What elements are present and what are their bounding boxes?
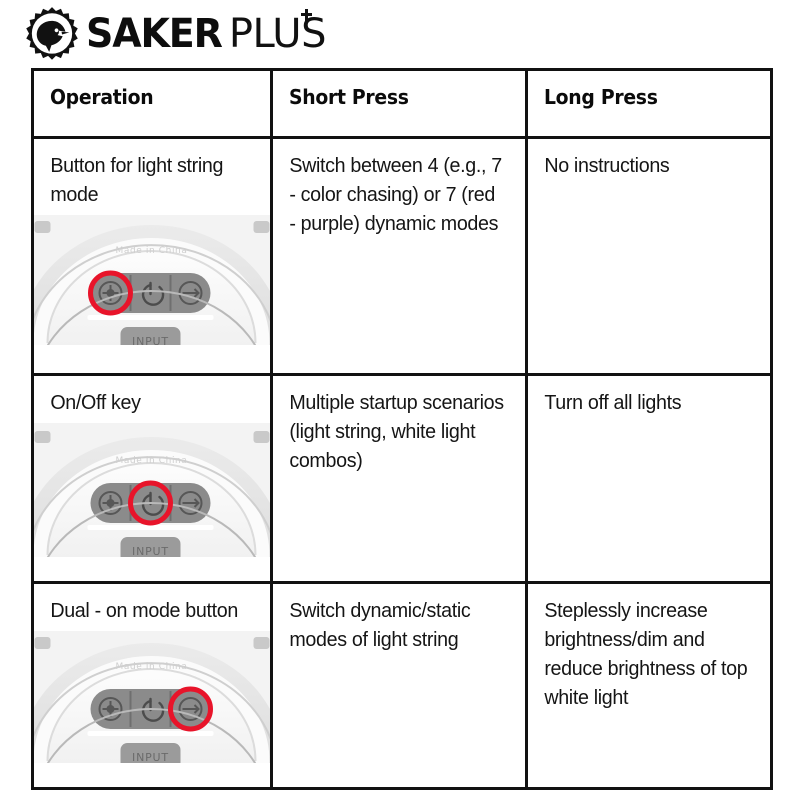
operation-spec-table: Operation Short Press Long Press Button … (31, 68, 773, 790)
eagle-head-in-gear-icon (24, 6, 80, 62)
table-row: Button for light string mode (33, 138, 772, 375)
device-photo-row2: Made in China (34, 423, 270, 557)
short-press-text-row3: Switch dynamic/static modes of light str… (273, 584, 515, 662)
long-press-text-row3: Steplessly increase brightness/dim and r… (528, 584, 760, 720)
device-photo-row1: Made in China (34, 215, 270, 345)
svg-text:INPUT: INPUT (132, 751, 169, 763)
brand-wordmark: SAKER PLUS (86, 14, 326, 54)
svg-text:Made in China: Made in China (116, 662, 188, 672)
cell-long-press-row1: No instructions (527, 138, 772, 375)
operation-label-row3: Dual - on mode button (34, 584, 261, 631)
cell-short-press-row3: Switch dynamic/static modes of light str… (272, 582, 527, 788)
table-header-row: Operation Short Press Long Press (33, 70, 772, 138)
cell-operation-row1: Button for light string mode (33, 138, 272, 375)
svg-text:INPUT: INPUT (132, 545, 169, 557)
operation-label-row1: Button for light string mode (34, 139, 261, 215)
cell-short-press-row1: Switch between 4 (e.g., 7 - color chasin… (272, 138, 527, 375)
cell-operation-row2: On/Off key (33, 374, 272, 582)
long-press-text-row2: Turn off all lights (528, 376, 760, 425)
column-header-operation-label: Operation (34, 71, 256, 109)
svg-text:INPUT: INPUT (132, 335, 169, 345)
column-header-long-press-label: Long Press (528, 71, 755, 109)
short-press-text-row2: Multiple startup scenarios (light string… (273, 376, 515, 483)
table-row: Dual - on mode button (33, 582, 772, 788)
cell-long-press-row3: Steplessly increase brightness/dim and r… (527, 582, 772, 788)
brand-logo: SAKER PLUS (24, 6, 326, 62)
svg-text:Made in China: Made in China (116, 246, 188, 256)
short-press-text-row1: Switch between 4 (e.g., 7 - color chasin… (273, 139, 515, 246)
column-header-operation: Operation (33, 70, 272, 138)
cell-long-press-row2: Turn off all lights (527, 374, 772, 582)
plus-cross-mark-icon (301, 9, 312, 21)
svg-text:Made in China: Made in China (116, 456, 188, 466)
column-header-short-press: Short Press (272, 70, 527, 138)
cell-operation-row3: Dual - on mode button (33, 582, 272, 788)
long-press-text-row1: No instructions (528, 139, 760, 188)
brand-name-bold: SAKER (86, 14, 222, 54)
column-header-long-press: Long Press (527, 70, 772, 138)
column-header-short-press-label: Short Press (273, 71, 510, 109)
table-row: On/Off key (33, 374, 772, 582)
cell-short-press-row2: Multiple startup scenarios (light string… (272, 374, 527, 582)
operation-label-row2: On/Off key (34, 376, 261, 423)
device-photo-row3: Made in China (34, 631, 270, 763)
